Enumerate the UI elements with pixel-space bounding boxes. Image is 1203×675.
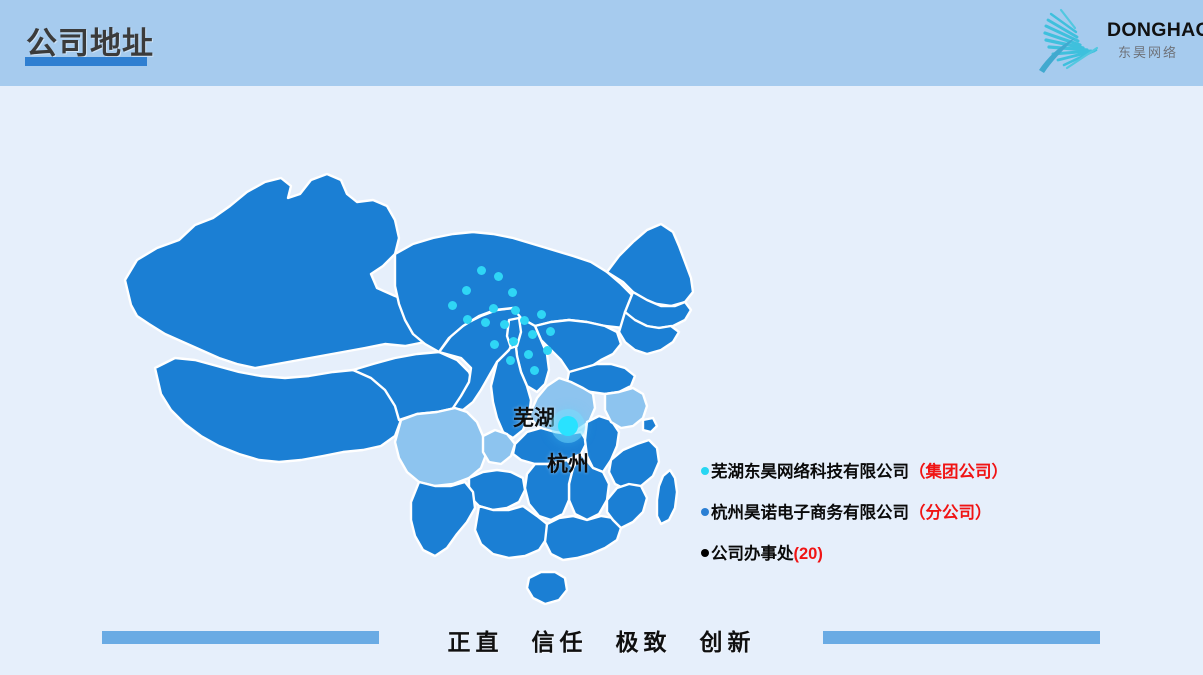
legend-item-offices[interactable]: 公司办事处(20): [701, 544, 1031, 585]
slide-company-address: 公司地址: [0, 0, 1203, 675]
feather-wing-icon: [1031, 8, 1105, 76]
province-guangdong: [545, 516, 621, 560]
legend-label-offices: 公司办事处: [711, 545, 794, 563]
logo-text-block: DONGHAO 东昊网络: [1107, 21, 1189, 59]
map-office-dot[interactable]: [506, 356, 515, 365]
province-fujian: [607, 484, 647, 528]
map-office-dot[interactable]: [462, 286, 471, 295]
map-office-dot[interactable]: [463, 315, 472, 324]
legend-item-group-company[interactable]: 芜湖东昊网络科技有限公司（集团公司）: [701, 462, 1031, 503]
map-office-dot[interactable]: [489, 304, 498, 313]
legend-accent-group-company: （集团公司）: [909, 463, 1008, 481]
map-label-hangzhou: 杭州: [547, 448, 589, 478]
map-office-dot[interactable]: [511, 306, 520, 315]
map-office-dot[interactable]: [509, 337, 518, 346]
map-office-dot[interactable]: [481, 318, 490, 327]
map-office-dot[interactable]: [477, 266, 486, 275]
map-office-dot[interactable]: [543, 346, 552, 355]
company-logo: DONGHAO 东昊网络: [1023, 6, 1191, 78]
china-map[interactable]: 芜湖 杭州: [95, 120, 735, 620]
logo-name-cn: 东昊网络: [1107, 46, 1189, 59]
province-yunnan: [411, 482, 475, 556]
logo-name-en: DONGHAO: [1107, 21, 1189, 41]
map-office-dot[interactable]: [448, 301, 457, 310]
province-sichuan: [395, 408, 487, 486]
legend-bullet-black-icon: [701, 549, 709, 557]
map-office-dot[interactable]: [490, 340, 499, 349]
map-office-dot[interactable]: [537, 310, 546, 319]
map-office-dot[interactable]: [524, 350, 533, 359]
map-office-dot[interactable]: [494, 272, 503, 281]
legend: 芜湖东昊网络科技有限公司（集团公司） 杭州昊诺电子商务有限公司（分公司） 公司办…: [701, 462, 1031, 585]
legend-accent-offices: (20): [794, 545, 823, 563]
legend-accent-branch-company: （分公司）: [909, 504, 992, 522]
map-office-dot[interactable]: [508, 288, 517, 297]
footer-slogan: 正直 信任 极致 创新: [0, 623, 1203, 657]
map-office-dot[interactable]: [500, 320, 509, 329]
province-jiangsu: [605, 388, 647, 428]
map-office-dot[interactable]: [546, 327, 555, 336]
province-taiwan: [657, 470, 677, 524]
china-map-svg: [95, 120, 735, 620]
legend-label-group-company: 芜湖东昊网络科技有限公司: [711, 463, 909, 481]
province-shanghai: [643, 418, 657, 432]
province-guizhou: [469, 470, 525, 510]
province-hainan: [527, 572, 567, 604]
province-xinjiang: [125, 174, 435, 368]
map-marker-wuhu-hq[interactable]: [558, 416, 578, 436]
map-label-wuhu: 芜湖: [513, 402, 555, 432]
map-office-dot[interactable]: [520, 316, 529, 325]
map-office-dot[interactable]: [530, 366, 539, 375]
map-office-dot[interactable]: [528, 330, 537, 339]
legend-item-branch-company[interactable]: 杭州昊诺电子商务有限公司（分公司）: [701, 503, 1031, 544]
title-underline: [25, 57, 147, 66]
legend-bullet-blue-icon: [701, 508, 709, 516]
legend-label-branch-company: 杭州昊诺电子商务有限公司: [711, 504, 909, 522]
legend-bullet-cyan-icon: [701, 467, 709, 475]
